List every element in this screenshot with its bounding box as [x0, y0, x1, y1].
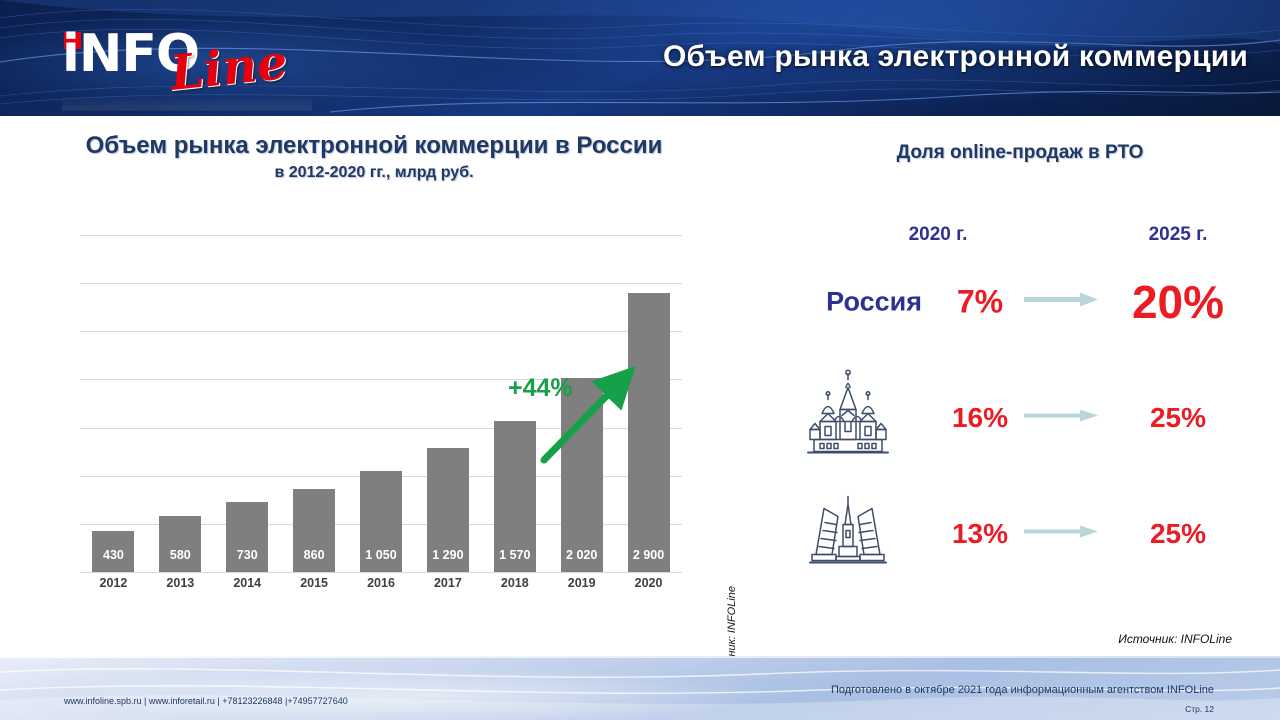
chart-bar-cell: 430 — [80, 235, 147, 572]
page-footer: www.infoline.spb.ru | www.inforetail.ru … — [0, 656, 1280, 720]
transition-arrow-russia — [1022, 291, 1100, 314]
chart-bar-cell: 580 — [147, 235, 214, 572]
slide-body: Объем рынка электронной коммерции в Росс… — [0, 116, 1280, 656]
chart-bar-value-label: 580 — [170, 548, 191, 562]
row-label-russia: Россия — [826, 287, 922, 318]
logo-reflection — [62, 96, 312, 111]
chart-title: Объем рынка электронной коммерции в Росс… — [24, 132, 724, 160]
chart-bar[interactable]: 1 050 — [360, 471, 402, 572]
transition-arrow-spb — [1022, 524, 1100, 545]
chart-bar-value-label: 1 290 — [432, 548, 463, 562]
footer-page-number: Стр. 12 — [1185, 704, 1214, 714]
saint-petersburg-bridge-icon — [802, 491, 894, 578]
share-row-russia: Россия 7% 20% — [780, 262, 1260, 342]
chart-bar-value-label: 730 — [237, 548, 258, 562]
moscow-share-2025: 25% — [1098, 402, 1258, 434]
chart-bar[interactable]: 580 — [159, 516, 201, 572]
chart-bar-value-label: 430 — [103, 548, 124, 562]
chart-bar-value-label: 1 050 — [365, 548, 396, 562]
chart-x-axis-labels: 201220132014201520162017201820192020 — [80, 576, 682, 590]
footer-links[interactable]: www.infoline.spb.ru | www.inforetail.ru … — [64, 696, 348, 706]
moscow-cathedral-icon — [802, 370, 894, 467]
logo-script-text: Line — [167, 34, 290, 102]
chart-bar[interactable]: 730 — [226, 502, 268, 572]
chart-x-tick-label: 2018 — [481, 576, 548, 590]
chart-bar[interactable]: 1 290 — [427, 448, 469, 572]
chart-bar-cell: 1 050 — [348, 235, 415, 572]
chart-bar-value-label: 1 570 — [499, 548, 530, 562]
chart-bar-value-label: 860 — [304, 548, 325, 562]
share-row-moscow: 16% 25% — [780, 378, 1260, 458]
moscow-share-2020: 16% — [940, 402, 1020, 434]
chart-x-tick-label: 2012 — [80, 576, 147, 590]
chart-bar[interactable]: 430 — [92, 531, 134, 572]
chart-bar-cell: 860 — [281, 235, 348, 572]
growth-percent-label: +44% — [508, 374, 573, 403]
chart-x-tick-label: 2017 — [414, 576, 481, 590]
spb-share-2020: 13% — [940, 518, 1020, 550]
transition-arrow-moscow — [1022, 408, 1100, 429]
online-share-title: Доля online-продаж в РТО — [760, 142, 1280, 164]
chart-bar-value-label: 2 900 — [633, 548, 664, 562]
page-header: iNFO Line Объем рынка электронной коммер… — [0, 0, 1280, 116]
page-title: Объем рынка электронной коммерции — [663, 40, 1248, 74]
chart-bar-cell: 1 290 — [414, 235, 481, 572]
share-row-spb: 13% 25% — [780, 494, 1260, 574]
spb-share-2025: 25% — [1098, 518, 1258, 550]
chart-x-tick-label: 2013 — [147, 576, 214, 590]
chart-subtitle: в 2012-2020 гг., млрд руб. — [24, 164, 724, 182]
chart-bar[interactable]: 860 — [293, 489, 335, 572]
russia-share-2025: 20% — [1098, 275, 1258, 329]
ecommerce-volume-chart: Объем рынка электронной коммерции в Росс… — [0, 116, 740, 616]
right-panel-source: Источник: INFOLine — [1118, 632, 1232, 646]
footer-prepared-by: Подготовлено в октябре 2021 года информа… — [831, 684, 1214, 696]
chart-x-tick-label: 2019 — [548, 576, 615, 590]
chart-gridline — [80, 572, 682, 573]
chart-bar-cell: 730 — [214, 235, 281, 572]
chart-x-tick-label: 2014 — [214, 576, 281, 590]
chart-x-tick-label: 2020 — [615, 576, 682, 590]
russia-share-2020: 7% — [940, 284, 1020, 321]
chart-x-tick-label: 2015 — [281, 576, 348, 590]
infoline-logo: iNFO Line — [62, 26, 322, 98]
chart-x-tick-label: 2016 — [348, 576, 415, 590]
column-header-2025: 2025 г. — [1098, 224, 1258, 246]
column-header-2020: 2020 г. — [858, 224, 1018, 246]
chart-bar-value-label: 2 020 — [566, 548, 597, 562]
